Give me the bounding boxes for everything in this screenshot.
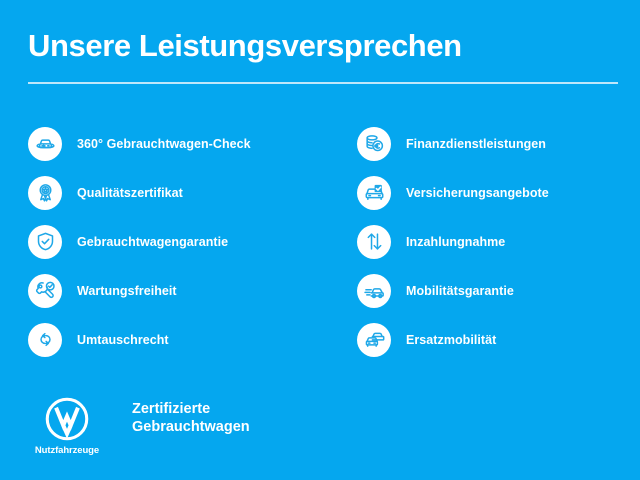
benefit-label: Finanzdienstleistungen	[406, 137, 546, 151]
page-title: Unsere Leistungsversprechen	[28, 28, 618, 64]
award-rosette-icon	[28, 176, 62, 210]
benefit-label: Mobilitätsgarantie	[406, 284, 514, 298]
brand-claim: Zertifizierte Gebrauchtwagen	[132, 400, 250, 436]
benefit-label: Ersatzmobilität	[406, 333, 496, 347]
car-motion-icon	[357, 274, 391, 308]
benefit-label: Gebrauchtwagengarantie	[77, 235, 228, 249]
benefit-label: Wartungsfreiheit	[77, 284, 177, 298]
benefit-label: Umtauschrecht	[77, 333, 169, 347]
benefit-item-maintenance-free[interactable]: Wartungsfreiheit	[28, 266, 348, 315]
header: Unsere Leistungsversprechen	[28, 28, 618, 84]
benefits-section: 360° Gebrauchtwagen-Check Qualitätszerti…	[0, 119, 640, 364]
brand-subtitle: Nutzfahrzeuge	[35, 445, 99, 456]
benefit-item-warranty[interactable]: Gebrauchtwagengarantie	[28, 217, 348, 266]
benefit-label: 360° Gebrauchtwagen-Check	[77, 137, 251, 151]
benefit-item-financial-services[interactable]: Finanzdienstleistungen	[357, 119, 627, 168]
benefits-column-left: 360° Gebrauchtwagen-Check Qualitätszerti…	[28, 119, 348, 364]
benefit-item-replacement-mobility[interactable]: Ersatzmobilität	[357, 315, 627, 364]
header-divider	[28, 82, 618, 84]
volkswagen-logo	[44, 396, 90, 442]
car-360-check-icon	[28, 127, 62, 161]
brand-mark: Nutzfahrzeuge	[30, 396, 104, 456]
two-cars-icon	[357, 323, 391, 357]
benefit-item-360-check[interactable]: 360° Gebrauchtwagen-Check	[28, 119, 348, 168]
benefits-column-right: Finanzdienstleistungen Versicherungsange…	[357, 119, 627, 364]
benefit-item-right-of-exchange[interactable]: Umtauschrecht	[28, 315, 348, 364]
benefit-item-trade-in[interactable]: Inzahlungnahme	[357, 217, 627, 266]
arrows-up-down-icon	[357, 225, 391, 259]
car-document-check-icon	[357, 176, 391, 210]
coins-euro-icon	[357, 127, 391, 161]
benefit-label: Inzahlungnahme	[406, 235, 505, 249]
brand-claim-line2: Gebrauchtwagen	[132, 418, 250, 436]
benefit-item-quality-certificate[interactable]: Qualitätszertifikat	[28, 168, 348, 217]
benefit-label: Versicherungsangebote	[406, 186, 549, 200]
benefit-label: Qualitätszertifikat	[77, 186, 183, 200]
wrench-check-icon	[28, 274, 62, 308]
brand-footer: Nutzfahrzeuge Zertifizierte Gebrauchtwag…	[30, 396, 250, 456]
brand-claim-line1: Zertifizierte	[132, 400, 250, 418]
benefit-item-mobility-guarantee[interactable]: Mobilitätsgarantie	[357, 266, 627, 315]
benefit-item-insurance-offers[interactable]: Versicherungsangebote	[357, 168, 627, 217]
exchange-arrows-icon	[28, 323, 62, 357]
shield-check-icon	[28, 225, 62, 259]
